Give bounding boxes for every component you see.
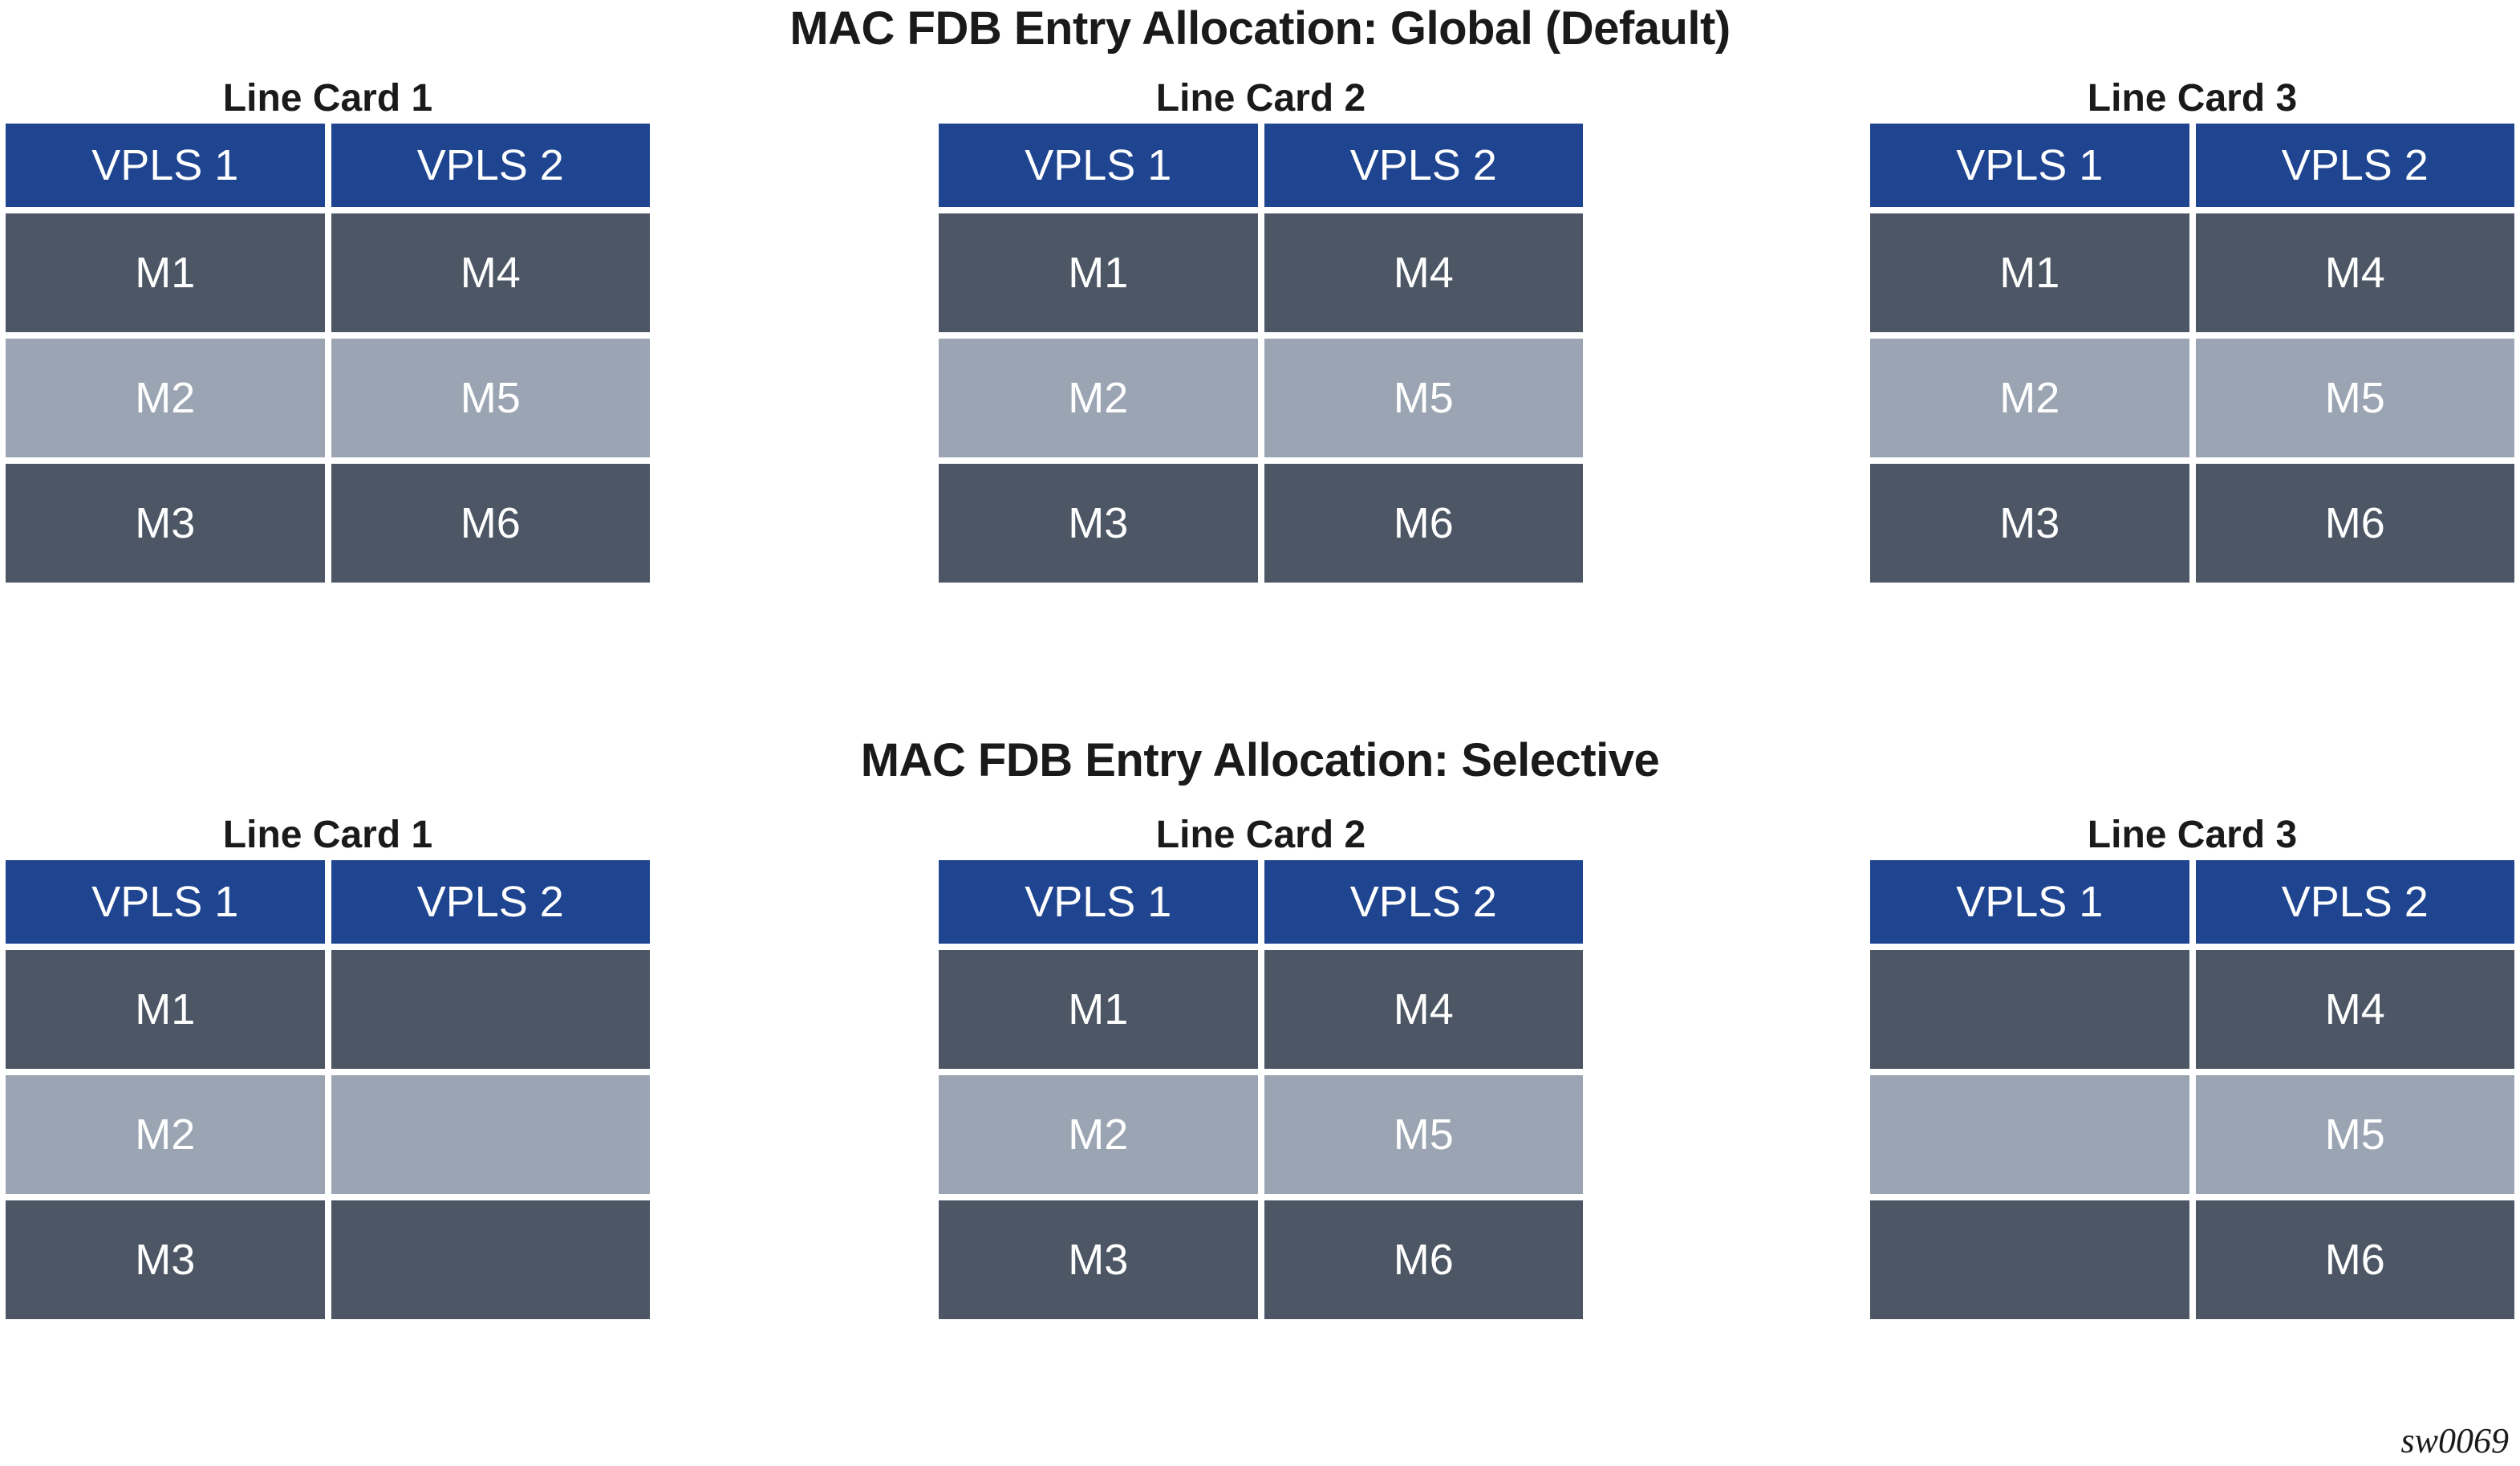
mac-entry-cell: M4 — [2196, 213, 2515, 332]
mac-entry-cell: M2 — [6, 339, 325, 457]
mac-entry-cell: M3 — [939, 464, 1258, 583]
column-header-vpls-2: VPLS 2 — [331, 860, 651, 944]
mac-entry-cell: M2 — [6, 1075, 325, 1194]
column-header-vpls-2: VPLS 2 — [1264, 124, 1584, 207]
mac-entry-cell-empty — [1870, 1200, 2189, 1319]
mac-entry-cell: M5 — [331, 339, 651, 457]
line-card-title: Line Card 2 — [939, 810, 1583, 860]
fdb-grid: VPLS 1 VPLS 2 M1 M4 M2 M5 M3 M6 — [939, 124, 1583, 583]
line-card-title: Line Card 2 — [939, 74, 1583, 124]
mac-entry-cell: M3 — [1870, 464, 2189, 583]
column-header-vpls-1: VPLS 1 — [6, 124, 325, 207]
mac-entry-cell: M3 — [6, 1200, 325, 1319]
mac-entry-cell: M4 — [1264, 213, 1584, 332]
column-header-vpls-1: VPLS 1 — [1870, 860, 2189, 944]
mac-entry-cell: M4 — [2196, 950, 2515, 1069]
column-header-vpls-1: VPLS 1 — [939, 860, 1258, 944]
mac-entry-cell: M6 — [2196, 464, 2515, 583]
mac-entry-cell: M3 — [6, 464, 325, 583]
mac-entry-cell: M5 — [2196, 339, 2515, 457]
fdb-grid: VPLS 1 VPLS 2 M1 M4 M2 M5 M3 M6 — [939, 860, 1583, 1319]
mac-entry-cell-empty — [1870, 950, 2189, 1069]
fdb-grid: VPLS 1 VPLS 2 M1 M4 M2 M5 M3 M6 — [1870, 124, 2514, 583]
mac-entry-cell: M2 — [939, 1075, 1258, 1194]
mac-entry-cell: M2 — [1870, 339, 2189, 457]
line-card-title: Line Card 1 — [6, 810, 650, 860]
line-card-selective-3: Line Card 3 VPLS 1 VPLS 2 M4 M5 M6 — [1870, 810, 2514, 1319]
mac-entry-cell-empty — [331, 1200, 651, 1319]
mac-entry-cell: M6 — [1264, 464, 1584, 583]
line-card-title: Line Card 1 — [6, 74, 650, 124]
figure-watermark: sw0069 — [2401, 1420, 2509, 1461]
fdb-grid: VPLS 1 VPLS 2 M4 M5 M6 — [1870, 860, 2514, 1319]
line-card-global-3: Line Card 3 VPLS 1 VPLS 2 M1 M4 M2 M5 M3… — [1870, 74, 2514, 583]
column-header-vpls-1: VPLS 1 — [939, 124, 1258, 207]
mac-entry-cell: M1 — [1870, 213, 2189, 332]
line-card-title: Line Card 3 — [1870, 74, 2514, 124]
mac-entry-cell: M3 — [939, 1200, 1258, 1319]
column-header-vpls-2: VPLS 2 — [2196, 124, 2515, 207]
mac-entry-cell: M4 — [331, 213, 651, 332]
mac-entry-cell-empty — [331, 1075, 651, 1194]
mac-entry-cell-empty — [1870, 1075, 2189, 1194]
mac-entry-cell: M2 — [939, 339, 1258, 457]
column-header-vpls-1: VPLS 1 — [1870, 124, 2189, 207]
line-card-global-1: Line Card 1 VPLS 1 VPLS 2 M1 M4 M2 M5 M3… — [6, 74, 650, 583]
column-header-vpls-2: VPLS 2 — [1264, 860, 1584, 944]
mac-entry-cell: M4 — [1264, 950, 1584, 1069]
mac-entry-cell: M1 — [6, 950, 325, 1069]
mac-entry-cell: M1 — [939, 950, 1258, 1069]
line-card-selective-2: Line Card 2 VPLS 1 VPLS 2 M1 M4 M2 M5 M3… — [939, 810, 1583, 1319]
mac-entry-cell: M6 — [1264, 1200, 1584, 1319]
line-card-global-2: Line Card 2 VPLS 1 VPLS 2 M1 M4 M2 M5 M3… — [939, 74, 1583, 583]
fdb-grid: VPLS 1 VPLS 2 M1 M2 M3 — [6, 860, 650, 1319]
fdb-grid: VPLS 1 VPLS 2 M1 M4 M2 M5 M3 M6 — [6, 124, 650, 583]
mac-entry-cell: M5 — [1264, 1075, 1584, 1194]
mac-entry-cell: M1 — [6, 213, 325, 332]
column-header-vpls-2: VPLS 2 — [331, 124, 651, 207]
mac-entry-cell: M6 — [331, 464, 651, 583]
mac-entry-cell-empty — [331, 950, 651, 1069]
column-header-vpls-2: VPLS 2 — [2196, 860, 2515, 944]
mac-entry-cell: M5 — [2196, 1075, 2515, 1194]
column-header-vpls-1: VPLS 1 — [6, 860, 325, 944]
line-card-selective-1: Line Card 1 VPLS 1 VPLS 2 M1 M2 M3 — [6, 810, 650, 1319]
section-title-global: MAC FDB Entry Allocation: Global (Defaul… — [0, 2, 2520, 55]
line-card-title: Line Card 3 — [1870, 810, 2514, 860]
mac-entry-cell: M1 — [939, 213, 1258, 332]
mac-entry-cell: M6 — [2196, 1200, 2515, 1319]
section-title-selective: MAC FDB Entry Allocation: Selective — [0, 733, 2520, 787]
mac-entry-cell: M5 — [1264, 339, 1584, 457]
